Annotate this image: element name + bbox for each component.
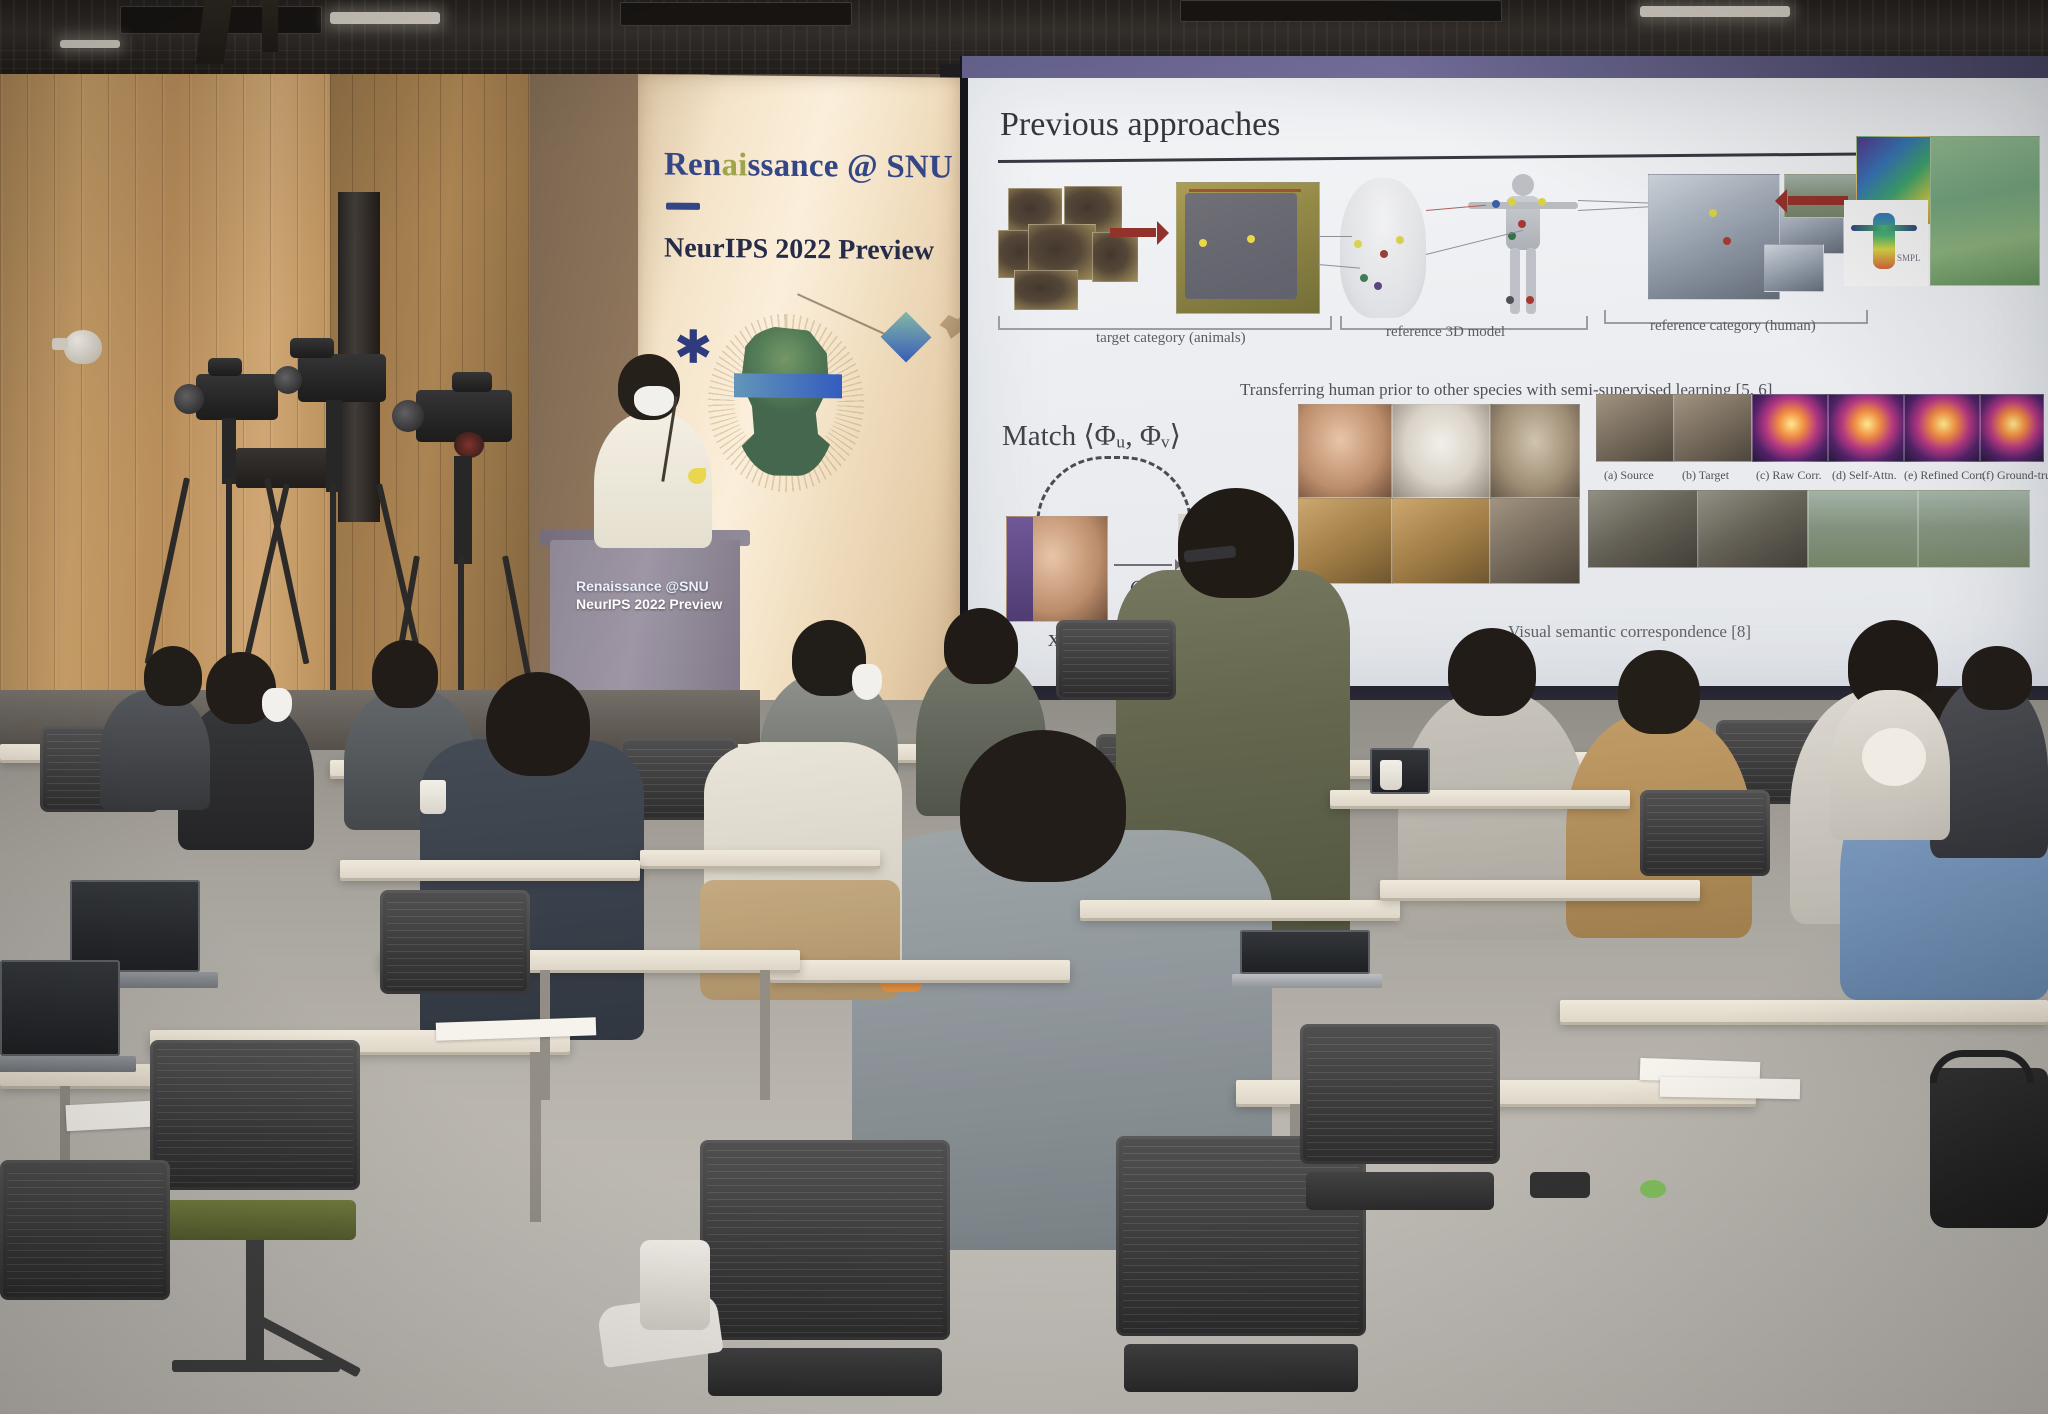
tripod-head (326, 400, 342, 492)
standing-attendee-head (1178, 488, 1294, 598)
source-image (1006, 516, 1108, 622)
chair-back[interactable] (380, 890, 530, 994)
lecture-hall-photo: Renaissance @ SNU NeurIPS 2022 Preview ✱… (0, 0, 2048, 1414)
attendee-body (100, 690, 210, 810)
attendee-mask (1862, 728, 1926, 786)
corr-self-attn-map (1828, 394, 1904, 462)
leg (640, 1240, 710, 1330)
mouse[interactable] (1530, 1172, 1590, 1198)
reference-3d-model (1468, 174, 1578, 322)
desk (770, 960, 1070, 980)
chair-seat[interactable] (156, 1200, 356, 1240)
backpack[interactable] (1930, 1068, 2048, 1228)
bag-handle (1930, 1050, 2034, 1083)
chair-back[interactable] (150, 1040, 360, 1190)
banner-title: Renaissance @ SNU (664, 147, 950, 187)
group-bracket (998, 316, 1332, 330)
figcap-raw-corr: (c) Raw Corr. (1756, 468, 1822, 483)
camera-lens (274, 366, 302, 394)
reference-human-image (1648, 174, 1780, 300)
caption-reference-category: reference category (human) (1650, 318, 1816, 335)
keypoint (1506, 296, 1514, 304)
figcap-self-attn: (d) Self-Attn. (1832, 468, 1897, 483)
bbox-top (1189, 189, 1301, 192)
grid-image (1392, 404, 1490, 498)
grid-image (1298, 404, 1392, 498)
chair-seat[interactable] (1306, 1172, 1494, 1210)
camera-lens-secondary (454, 432, 484, 458)
ceiling-light (1640, 6, 1790, 17)
laptop-keyboard[interactable] (1232, 974, 1382, 988)
video-camera (298, 354, 386, 402)
podium-sign-line1: Renaissance @SNU (576, 578, 709, 594)
paper-sheet[interactable] (1660, 1077, 1800, 1099)
ceiling-beam (262, 0, 278, 52)
keypoint (1380, 250, 1388, 258)
keypoint (1354, 240, 1362, 248)
kite-icon (881, 312, 932, 363)
chair-post (246, 1240, 264, 1360)
tripod-leg (226, 478, 232, 678)
keypoint (1709, 209, 1717, 217)
figcap-refined-corr: (e) Refined Corr. (1904, 468, 1986, 483)
chair-base (172, 1360, 340, 1372)
eye-bar-graphic (734, 373, 842, 398)
laptop-screen[interactable] (70, 880, 200, 972)
security-camera-icon (64, 330, 102, 364)
camera-lens (174, 384, 204, 414)
laptop-base[interactable] (0, 1056, 136, 1072)
red-arrow-icon (1110, 228, 1156, 237)
attendee-head (944, 608, 1018, 684)
keypoint (1723, 237, 1731, 245)
desk (1080, 900, 1400, 918)
corr-refined-map (1904, 394, 1980, 462)
banner-title-accent: ai (721, 147, 747, 183)
figcap-source: (a) Source (1604, 468, 1654, 483)
camera-viewfinder (290, 338, 334, 358)
corr-source-image (1596, 394, 1674, 462)
caption-reference-3d-model: reference 3D model (1386, 324, 1505, 341)
smpl-label: SMPL (1897, 253, 1921, 263)
desk (1560, 1000, 2048, 1022)
chair-back[interactable] (0, 1160, 170, 1300)
corr-raw-map (1752, 394, 1828, 462)
chair-back[interactable] (1640, 790, 1770, 876)
camera-lens (392, 400, 424, 432)
cup[interactable] (420, 780, 446, 814)
ceiling-panel (1180, 0, 1502, 22)
chair-back[interactable] (1116, 1136, 1366, 1336)
keypoint (1508, 198, 1516, 206)
attendee-head (144, 646, 202, 706)
keypoint (1247, 235, 1255, 243)
desk (1380, 880, 1700, 898)
dense-pose-human (1873, 213, 1895, 269)
small-object (1640, 1180, 1666, 1198)
attendee-head (1962, 646, 2032, 710)
reference-human-image (1764, 244, 1824, 292)
banner-subtitle: NeurIPS 2022 Preview (664, 233, 934, 268)
chair-back[interactable] (700, 1140, 950, 1340)
tripod-leg (330, 484, 336, 704)
keypoint (1396, 236, 1404, 244)
tripod-head (454, 456, 472, 564)
caption-target-category: target category (animals) (1096, 330, 1246, 347)
corr-target-image (1674, 394, 1752, 462)
attendee-mask (262, 688, 292, 722)
desk (640, 850, 880, 866)
speaker-box (236, 448, 328, 488)
attendee-head (1618, 650, 1700, 734)
target-image (1176, 182, 1320, 314)
foreground-attendee-head (960, 730, 1126, 882)
laptop-screen[interactable] (0, 960, 120, 1056)
dense-pose-giraffe (1930, 136, 2040, 286)
pair-image (1918, 490, 2030, 568)
screen-top-bezel (962, 56, 2048, 78)
keypoint (1518, 220, 1526, 228)
camera-viewfinder (208, 358, 242, 376)
correspondence-line (1318, 236, 1352, 237)
match-label: Match ⟨Φᵤ, Φᵥ⟩ (1002, 418, 1181, 453)
grid-image (1490, 404, 1580, 498)
red-arrow-icon (1788, 196, 1848, 205)
banner-divider (666, 203, 700, 210)
keypoint (1538, 198, 1546, 206)
camera-viewfinder (452, 372, 492, 392)
figcap-ground-truth: (f) Ground-truth (1982, 468, 2048, 483)
animal-thumb (1092, 232, 1138, 282)
asterisk-icon: ✱ (674, 333, 708, 367)
laptop-screen[interactable] (1240, 930, 1370, 974)
corr-ground-truth-map (1980, 394, 2044, 462)
desk-leg (760, 970, 770, 1100)
ceiling-light (60, 40, 120, 48)
chair-back[interactable] (1300, 1024, 1500, 1164)
animal-thumb (1014, 270, 1078, 310)
logo-badge (688, 468, 706, 484)
attendee-body (1398, 690, 1588, 940)
model-head (1512, 174, 1534, 196)
pair-image (1808, 490, 1918, 568)
smpl-model-thumb: SMPL (1844, 200, 1928, 286)
keypoint (1199, 239, 1207, 247)
grid-image (1490, 498, 1580, 584)
cup[interactable] (1380, 760, 1402, 790)
chair-back[interactable] (1056, 620, 1176, 700)
keypoint (1492, 200, 1500, 208)
pair-image (1588, 490, 1698, 568)
ceiling-light (330, 12, 440, 24)
model-leg (1526, 248, 1536, 314)
attendee-head (372, 640, 438, 708)
dense-pose-arms (1851, 225, 1917, 231)
grid-image (1392, 498, 1490, 584)
attendee-head (1448, 628, 1536, 716)
mapping-arrow-icon (1114, 564, 1172, 566)
keypoint (1526, 296, 1534, 304)
figcap-target: (b) Target (1682, 468, 1729, 483)
attendee-mask (852, 664, 882, 700)
keypoint (1360, 274, 1368, 282)
grid-image (1298, 498, 1392, 584)
pair-image (1698, 490, 1808, 568)
caption-visual-semantic: Visual semantic correspondence [8] (1508, 622, 1751, 642)
tripod-head (222, 418, 236, 484)
chair-seat[interactable] (708, 1348, 942, 1396)
ceiling-panel (620, 2, 852, 26)
keypoint (1374, 282, 1382, 290)
model-leg (1510, 248, 1520, 314)
desk (340, 860, 640, 878)
image-background (1007, 517, 1033, 621)
attendee-head (486, 672, 590, 776)
mapping-arc-icon (1036, 456, 1192, 525)
video-camera (196, 374, 278, 420)
slide-title: Previous approaches (1000, 106, 1280, 144)
podium-sign-line2: NeurIPS 2022 Preview (576, 596, 722, 612)
speaker-face-mask (634, 386, 674, 416)
chair-seat[interactable] (1124, 1344, 1358, 1392)
attendee-lap-item (700, 880, 900, 1000)
mesh-animal-model (1340, 178, 1426, 318)
